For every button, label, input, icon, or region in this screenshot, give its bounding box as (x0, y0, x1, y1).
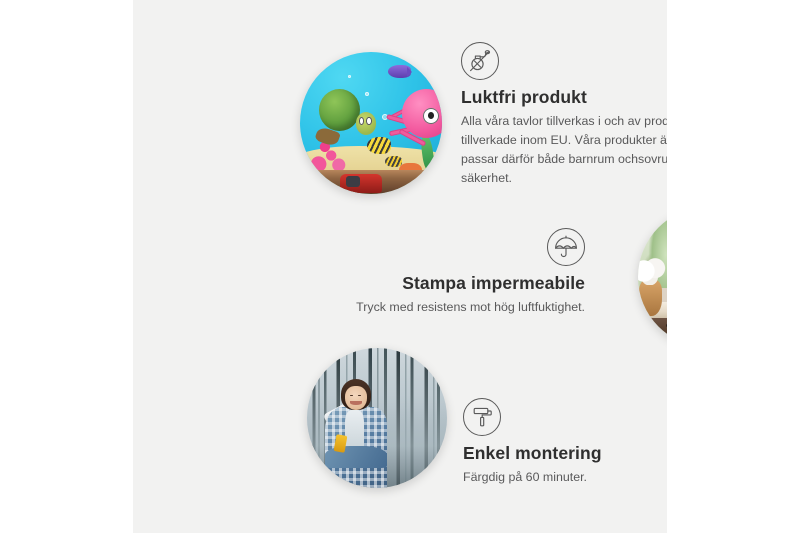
feature-odourless: Luktfri produkt Alla våra tavlor tillver… (461, 42, 667, 187)
product-photo-forest (307, 348, 447, 488)
feature-waterproof-title: Stampa impermeabile (313, 273, 585, 294)
vanity-cabinet (649, 318, 667, 347)
feature-waterproof-description: Tryck med resistens mot hög luftfuktighe… (313, 298, 585, 317)
paint-roller-icon (463, 398, 501, 436)
feature-odourless-icon-wrap (461, 42, 667, 80)
feature-waterproof-icon-wrap (313, 228, 585, 266)
person-face (345, 386, 367, 410)
flowers-icon (638, 257, 666, 285)
feature-odourless-title: Luktfri produkt (461, 87, 667, 108)
screenshot-root: Luktfri produkt Alla våra tavlor tillver… (0, 0, 800, 533)
feature-waterproof: Stampa impermeabile Tryck med resistens … (313, 228, 585, 317)
octopus-icon (388, 89, 442, 151)
product-photo-sea (300, 52, 442, 194)
feature-odourless-description: Alla våra tavlor tillverkas i och av pro… (461, 112, 667, 187)
feature-easy-mount-icon-wrap (463, 398, 667, 436)
feature-easy-mount-title: Enkel montering (463, 443, 667, 464)
umbrella-icon (547, 228, 585, 266)
purple-fish-icon (388, 65, 411, 78)
yellow-fish-small-icon (385, 156, 402, 167)
feature-easy-mount-description: Färgdig på 60 minuter. (463, 468, 667, 487)
yellow-fish-icon (367, 137, 391, 154)
no-fragrance-icon (461, 42, 499, 80)
feature-easy-mount: Enkel montering Färgdig på 60 minuter. (463, 398, 667, 487)
red-object (340, 174, 383, 192)
feature-panel: Luktfri produkt Alla våra tavlor tillver… (133, 0, 667, 533)
turtle-icon (317, 89, 374, 140)
product-photo-bathroom (638, 207, 667, 347)
